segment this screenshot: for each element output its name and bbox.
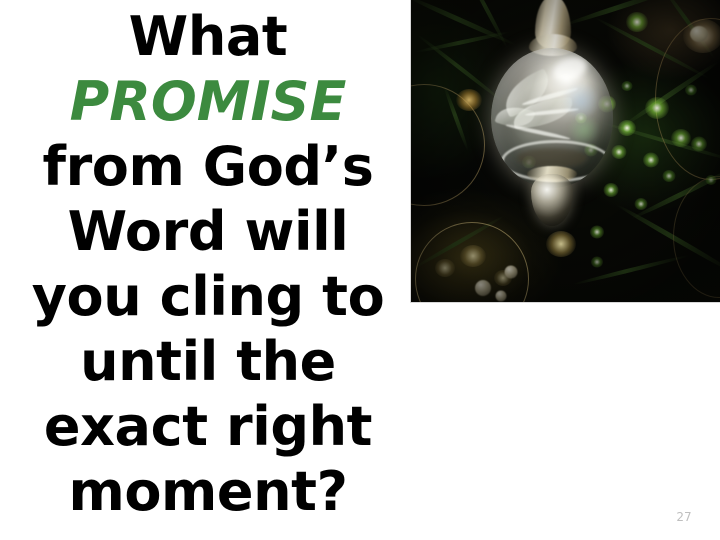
text-line-promise: PROMISE: [8, 69, 408, 134]
berry: [690, 26, 708, 42]
bokeh-light: [460, 245, 486, 267]
bokeh-light: [622, 81, 633, 91]
bokeh-light: [626, 12, 648, 32]
bokeh-light: [435, 259, 455, 277]
bokeh-light: [456, 89, 482, 111]
page-number: 27: [664, 510, 704, 524]
bokeh-light: [685, 85, 697, 96]
slide-canvas: What PROMISE from God’s Word will you cl…: [0, 0, 720, 540]
bokeh-light: [663, 170, 676, 182]
text-line-6: until the: [8, 329, 408, 394]
bokeh-light: [645, 97, 669, 119]
bokeh-light: [618, 120, 636, 136]
ornament-bottom-drop: [531, 174, 573, 226]
text-line-8: moment?: [8, 459, 408, 524]
bokeh-light: [691, 137, 707, 152]
berry: [505, 266, 518, 279]
bokeh-light: [706, 175, 717, 185]
text-line-5: you cling to: [8, 264, 408, 329]
bokeh-light: [591, 257, 603, 268]
berry: [475, 280, 491, 296]
slide-text-block: What PROMISE from God’s Word will you cl…: [8, 4, 408, 524]
bokeh-light: [671, 129, 691, 147]
bokeh-light: [546, 231, 576, 257]
text-line-4: Word will: [8, 199, 408, 264]
text-line-7: exact right: [8, 394, 408, 459]
glass-ornament: [489, 0, 617, 228]
bokeh-light: [635, 198, 648, 210]
bokeh-light: [643, 153, 659, 168]
ornament-photo-frame: [410, 0, 720, 303]
christmas-ornament-photo: [411, 0, 720, 302]
berry: [496, 291, 507, 302]
text-line-3: from God’s: [8, 134, 408, 199]
text-line-1: What: [8, 4, 408, 69]
